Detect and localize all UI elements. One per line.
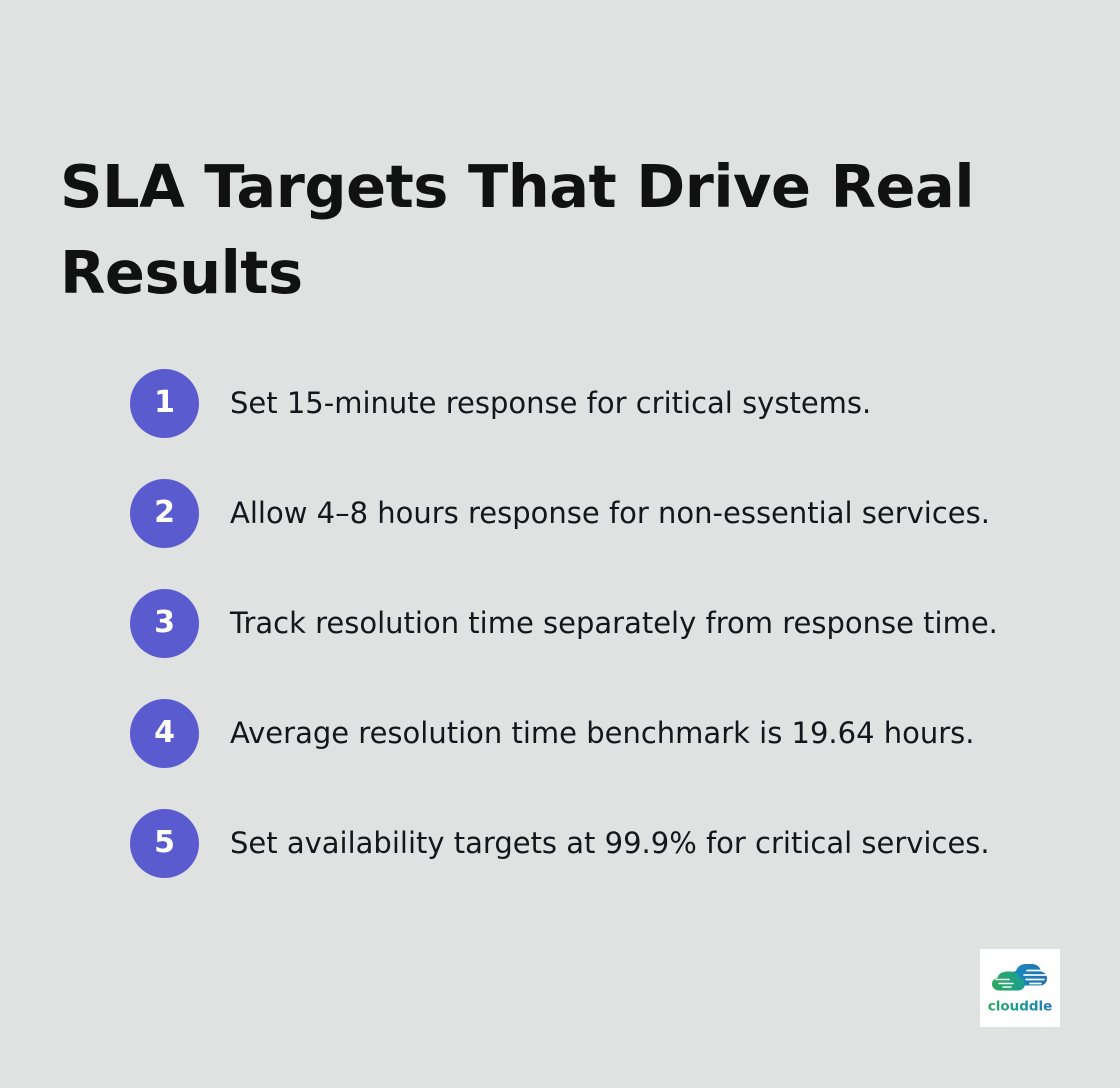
tip-text: Track resolution time separately from re…	[230, 605, 998, 641]
cloud-logo-icon	[991, 961, 1049, 995]
brand-logo-card: clouddle	[980, 949, 1060, 1027]
tip-text: Set 15-minute response for critical syst…	[230, 385, 871, 421]
brand-wordmark: clouddle	[988, 996, 1052, 1016]
tips-list: 1 Set 15-minute response for critical sy…	[130, 368, 1080, 878]
list-item: 5 Set availability targets at 99.9% for …	[130, 808, 1080, 878]
list-item: 1 Set 15-minute response for critical sy…	[130, 368, 1080, 438]
list-item: 4 Average resolution time benchmark is 1…	[130, 698, 1080, 768]
tip-number-badge: 1	[130, 369, 199, 438]
page-title: SLA Targets That Drive Real Results	[60, 144, 980, 316]
brand-wordmark-text: clouddle	[988, 998, 1052, 1014]
tip-text: Allow 4–8 hours response for non-essenti…	[230, 495, 990, 531]
tip-number-badge: 3	[130, 589, 199, 658]
tip-number-badge: 5	[130, 809, 199, 878]
tip-text: Average resolution time benchmark is 19.…	[230, 715, 975, 751]
tip-number-badge: 4	[130, 699, 199, 768]
tip-text: Set availability targets at 99.9% for cr…	[230, 825, 990, 861]
list-item: 2 Allow 4–8 hours response for non-essen…	[130, 478, 1080, 548]
infographic-canvas: SLA Targets That Drive Real Results 1 Se…	[0, 0, 1120, 1088]
tip-number-badge: 2	[130, 479, 199, 548]
list-item: 3 Track resolution time separately from …	[130, 588, 1080, 658]
